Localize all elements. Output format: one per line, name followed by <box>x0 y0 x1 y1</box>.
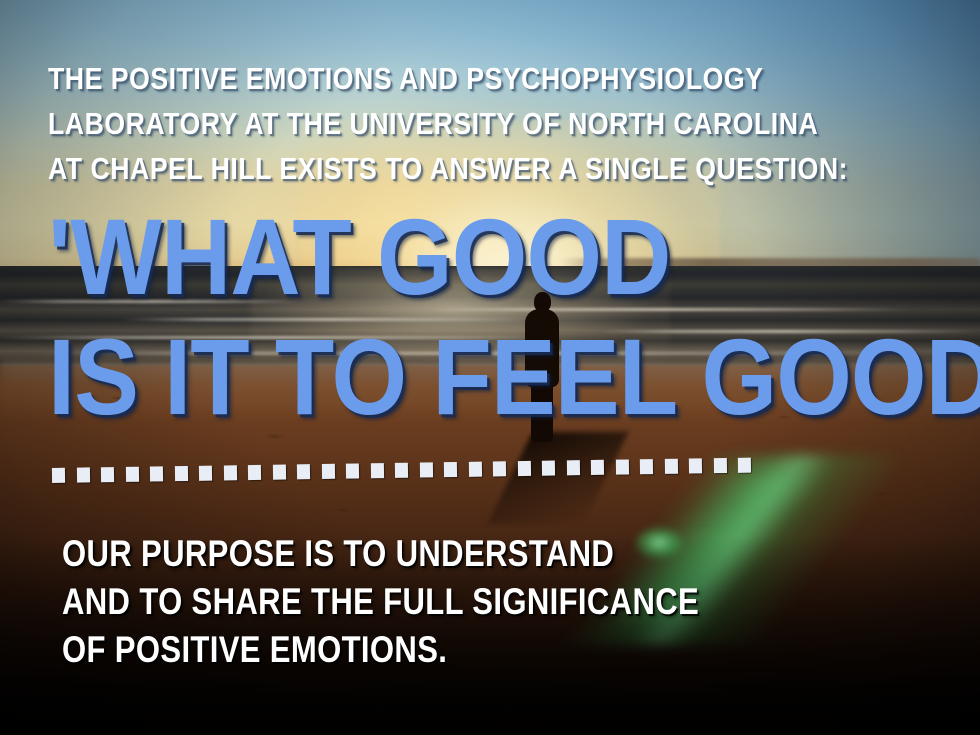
headline-line-1: 'What Good <box>48 205 670 309</box>
divider-dash <box>125 467 138 482</box>
purpose-paragraph: Our purpose is to understand and to shar… <box>62 530 650 674</box>
divider-dash <box>615 459 628 474</box>
poster: The Positive Emotions and Psychophysiolo… <box>0 0 980 735</box>
divider-dash <box>738 458 751 473</box>
divider-dash <box>346 463 359 478</box>
divider-dash <box>76 467 89 482</box>
headline-line-2: is it to feel good?' <box>48 325 980 429</box>
divider-dash <box>444 462 457 477</box>
divider-dash <box>272 465 285 480</box>
divider-dash <box>395 463 408 478</box>
dashed-divider <box>52 451 762 488</box>
divider-dash <box>248 465 261 480</box>
purpose-line-1: Our purpose is to understand <box>62 530 650 578</box>
purpose-line-2: and to share the full significance <box>62 578 650 626</box>
subheading-paragraph: The Positive Emotions and Psychophysiolo… <box>48 56 753 191</box>
subheading-line-2: Laboratory at the University of North Ca… <box>48 101 753 146</box>
divider-dash <box>468 462 481 477</box>
purpose-line-3: of positive emotions. <box>62 626 650 674</box>
divider-dash <box>174 466 187 481</box>
divider-dash <box>199 466 212 481</box>
divider-dash <box>370 463 383 478</box>
divider-dash <box>52 468 65 483</box>
subheading-line-3: at Chapel Hill exists to answer a single… <box>48 146 753 191</box>
divider-dash <box>591 460 604 475</box>
divider-dash <box>493 461 506 476</box>
divider-dash <box>419 462 432 477</box>
divider-dash <box>517 461 530 476</box>
divider-dash <box>223 465 236 480</box>
text-content: The Positive Emotions and Psychophysiolo… <box>0 0 980 735</box>
divider-dash <box>713 458 726 473</box>
divider-dash <box>101 467 114 482</box>
divider-dash <box>689 458 702 473</box>
divider-dash <box>566 460 579 475</box>
divider-dash <box>321 464 334 479</box>
divider-dash <box>150 466 163 481</box>
divider-dash <box>542 461 555 476</box>
divider-dash <box>664 459 677 474</box>
divider-dash <box>640 459 653 474</box>
divider-dash <box>297 464 310 479</box>
subheading-line-1: The Positive Emotions and Psychophysiolo… <box>48 56 753 101</box>
